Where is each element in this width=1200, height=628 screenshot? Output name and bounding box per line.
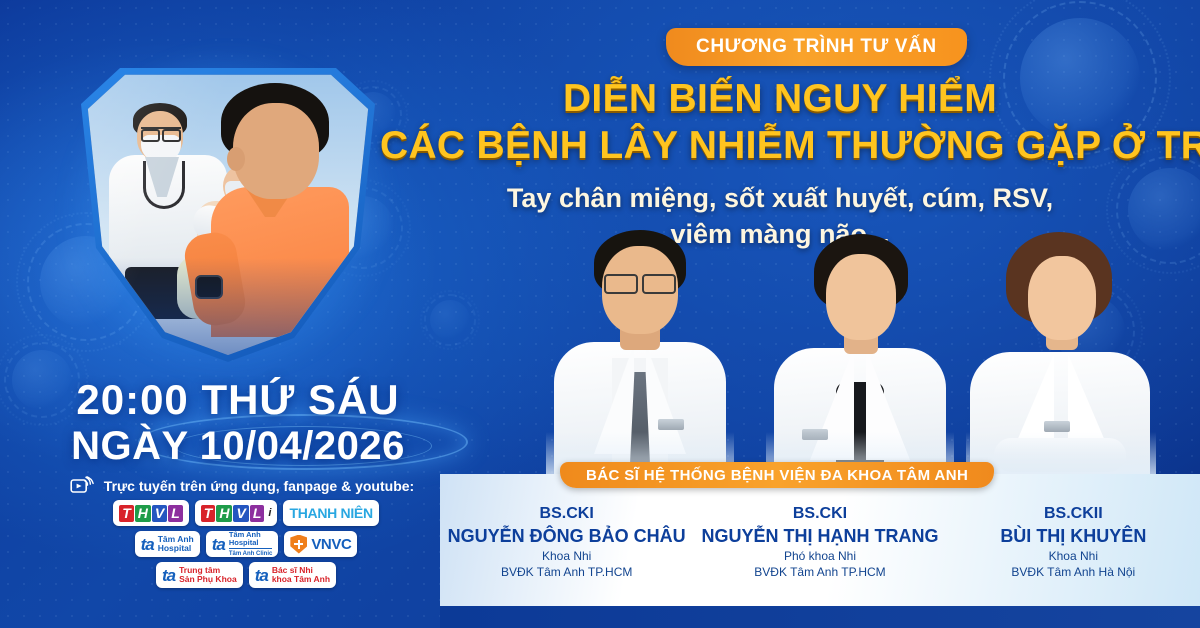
consultation-program-banner: CHƯƠNG TRÌNH TƯ VẤN DIỄN BIẾN NGUY HIỂM …	[0, 0, 1200, 628]
doctor-role: Khoa Nhi	[440, 548, 693, 564]
doctors-section-chip: BÁC SĨ HỆ THỐNG BỆNH VIỆN ĐA KHOA TÂM AN…	[560, 462, 994, 488]
logo-thvl-i[interactable]: THVLi	[195, 500, 278, 526]
doctor-name: NGUYỄN ĐÔNG BẢO CHÂU	[440, 524, 693, 548]
logo-row-3: ta Trung tâm Sản Phụ Khoa ta Bác sĩ Nhi …	[96, 562, 396, 588]
doctor-hospital: BVĐK Tâm Anh TP.HCM	[693, 564, 946, 580]
bottom-blue-strip	[440, 606, 1200, 628]
virus-decoration-icon	[430, 300, 470, 340]
broadcast-time: 20:00 THỨ SÁU	[58, 376, 418, 424]
doctor-portrait-1	[546, 228, 734, 478]
shield-photo-frame	[78, 62, 378, 362]
logo-bac-si-nhi-tam-anh[interactable]: ta Bác sĩ Nhi khoa Tâm Anh	[249, 562, 336, 588]
doctor-degree: BS.CKI	[693, 504, 946, 524]
doctor-role: Phó khoa Nhi	[693, 548, 946, 564]
logo-vnvc-text: VNVC	[311, 536, 351, 553]
doctor-degree: BS.CKI	[440, 504, 693, 524]
doctor-card: BS.CKI NGUYỄN THỊ HẠNH TRANG Phó khoa Nh…	[693, 504, 946, 580]
doctor-cards: BS.CKI NGUYỄN ĐÔNG BẢO CHÂU Khoa Nhi BVĐ…	[440, 504, 1200, 580]
ta-hospital-line2: Hospital	[158, 544, 194, 553]
doctor-portrait-3	[966, 232, 1156, 478]
logo-trung-tam-san-phu-khoa[interactable]: ta Trung tâm Sản Phụ Khoa	[156, 562, 243, 588]
vnvc-shield-icon	[290, 535, 307, 554]
doctor-degree: BS.CKII	[947, 504, 1200, 524]
broadcast-date: NGÀY 10/04/2026	[58, 424, 418, 469]
doctor-name: BÙI THỊ KHUYÊN	[947, 524, 1200, 548]
logo-row-2: ta Tâm Anh Hospital ta Tâm Anh Hospital …	[96, 531, 396, 557]
program-type-chip: CHƯƠNG TRÌNH TƯ VẤN	[666, 28, 967, 66]
program-type-label: CHƯƠNG TRÌNH TƯ VẤN	[696, 36, 937, 58]
title-line-1: DIỄN BIẾN NGUY HIỂM	[380, 76, 1180, 122]
doctor-portrait-2	[766, 232, 954, 478]
subtitle-line-1: Tay chân miệng, sốt xuất huyết, cúm, RSV…	[380, 180, 1180, 216]
partner-logos: THVL THVLi THANH NIÊN ta Tâm Anh Hospita…	[96, 500, 396, 593]
eyeglasses-icon	[602, 274, 678, 290]
ta-clinic-line3: Tâm Anh Clinic	[229, 548, 272, 558]
title-block: DIỄN BIẾN NGUY HIỂM CÁC BỆNH LÂY NHIỄM T…	[380, 76, 1180, 252]
logo-thvl[interactable]: THVL	[113, 500, 189, 526]
bacsinhi-line2: khoa Tâm Anh	[272, 575, 330, 585]
doctor-card: BS.CKII BÙI THỊ KHUYÊN Khoa Nhi BVĐK Tâm…	[947, 504, 1200, 580]
doctor-hospital: BVĐK Tâm Anh TP.HCM	[440, 564, 693, 580]
title-line-2: CÁC BỆNH LÂY NHIỄM THƯỜNG GẶP Ở TRẺ	[380, 122, 1180, 170]
sanphukhoa-line2: Sản Phụ Khoa	[179, 575, 237, 585]
ta-mark: ta	[141, 536, 154, 553]
ta-mark: ta	[255, 567, 268, 584]
logo-tam-anh-hospital[interactable]: ta Tâm Anh Hospital	[135, 531, 200, 557]
doctors-section-label: BÁC SĨ HỆ THỐNG BỆNH VIỆN ĐA KHOA TÂM AN…	[586, 467, 968, 484]
doctor-hospital: BVĐK Tâm Anh Hà Nội	[947, 564, 1200, 580]
logo-thanh-nien-text: THANH NIÊN	[289, 505, 372, 521]
doctor-role: Khoa Nhi	[947, 548, 1200, 564]
logo-thanh-nien[interactable]: THANH NIÊN	[283, 500, 378, 526]
doctor-card: BS.CKI NGUYỄN ĐÔNG BẢO CHÂU Khoa Nhi BVĐ…	[440, 504, 693, 580]
doctor-name: NGUYỄN THỊ HẠNH TRANG	[693, 524, 946, 548]
ta-clinic-line2: Hospital	[229, 539, 272, 547]
livestream-note-row: Trực tuyến trên ứng dụng, fanpage & yout…	[58, 476, 426, 496]
livestream-note: Trực tuyến trên ứng dụng, fanpage & yout…	[104, 478, 414, 494]
ta-mark: ta	[212, 536, 225, 553]
livestream-icon	[70, 476, 96, 496]
ta-mark: ta	[162, 567, 175, 584]
logo-vnvc[interactable]: VNVC	[284, 531, 357, 557]
logo-tam-anh-clinic[interactable]: ta Tâm Anh Hospital Tâm Anh Clinic	[206, 531, 279, 557]
logo-row-1: THVL THVLi THANH NIÊN	[96, 500, 396, 526]
